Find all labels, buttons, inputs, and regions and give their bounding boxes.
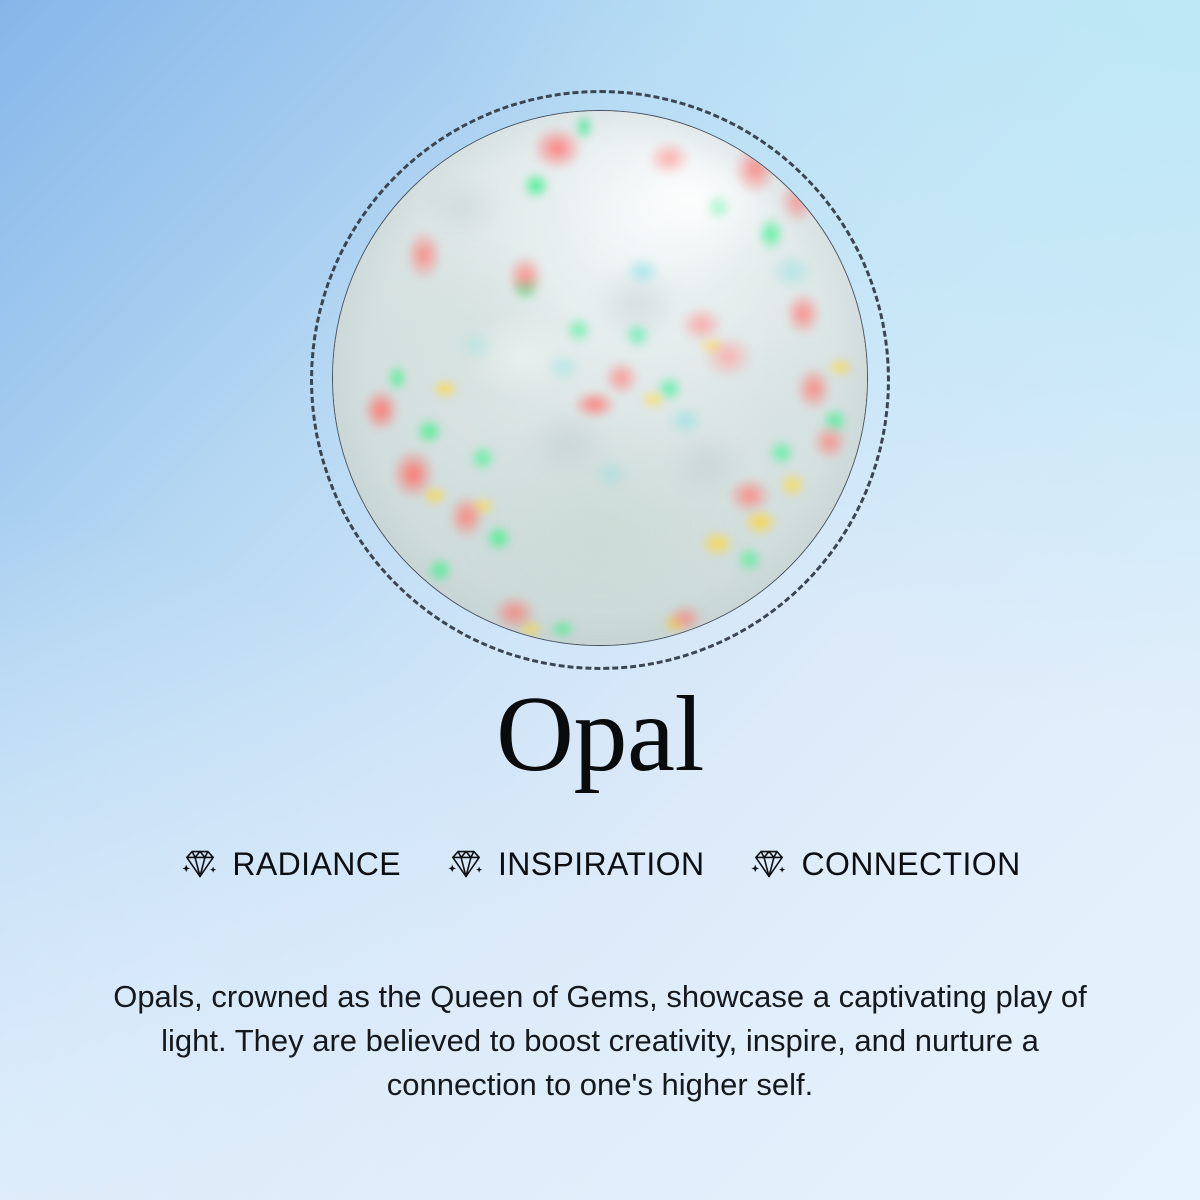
opal-cabochon-image [332,110,868,646]
gemstone-description: Opals, crowned as the Queen of Gems, sho… [100,975,1100,1107]
opal-pink-flash-layer [333,111,867,645]
keyword-label: CONNECTION [801,846,1020,883]
keyword-label: RADIANCE [232,846,401,883]
diamond-sparkle-icon [748,843,790,885]
page-title: Opal [0,678,1200,792]
keyword-item-radiance: RADIANCE [179,843,401,885]
keyword-item-connection: CONNECTION [748,843,1020,885]
diamond-sparkle-icon [445,843,487,885]
diamond-sparkle-icon [179,843,221,885]
gemstone-image-area [0,0,1200,700]
keyword-item-inspiration: INSPIRATION [445,843,705,885]
keyword-label: INSPIRATION [498,846,705,883]
gemstone-info-card: Opal RADIANCE [0,0,1200,1200]
keyword-row: RADIANCE INSPIRATION [0,843,1200,885]
